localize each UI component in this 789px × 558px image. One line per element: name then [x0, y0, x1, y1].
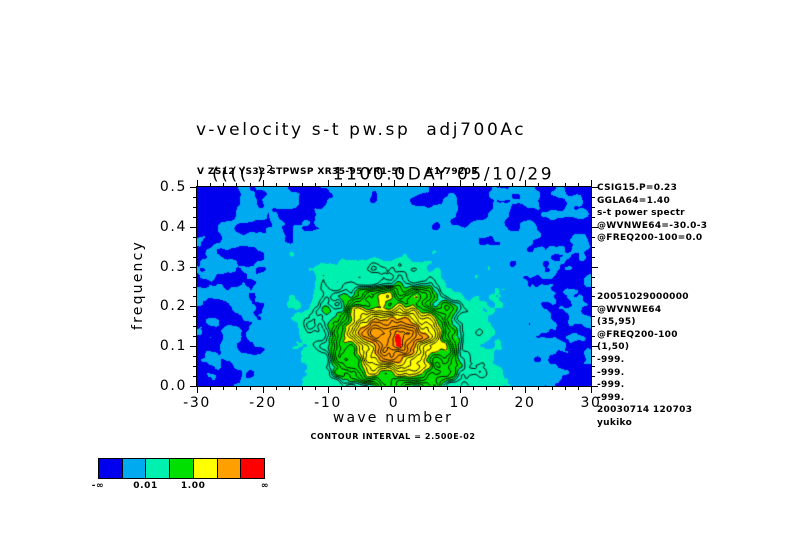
right-annotations-bottom: 20051029000000@WVNWE64(35,95)@FREQ200-10… [597, 291, 692, 430]
y-minor-tick [193, 296, 197, 297]
x-minor-tick [315, 386, 316, 390]
x-minor-tick [433, 386, 434, 390]
y-minor-tick-right [591, 237, 595, 238]
y-tick-label: 0.2 [145, 298, 187, 314]
x-major-tick-top [591, 180, 592, 187]
x-tick-label: -30 [183, 395, 211, 411]
y-major-tick [190, 267, 197, 268]
y-minor-tick-right [591, 326, 595, 327]
colorbar-band-6 [241, 459, 264, 478]
y-major-tick [190, 386, 197, 387]
x-minor-tick-top [486, 183, 487, 187]
x-minor-tick [499, 386, 500, 390]
colorbar-band-0 [99, 459, 123, 478]
contour-interval-caption: CONTOUR INTERVAL = 2.500E-02 [310, 432, 475, 441]
annotation-line: -999. [597, 354, 692, 367]
x-minor-tick [473, 386, 474, 390]
x-minor-tick [407, 386, 408, 390]
x-axis-title: wave number [333, 410, 453, 426]
annotation-line: -999. [597, 392, 692, 405]
y-minor-tick [193, 316, 197, 317]
y-minor-tick-right [591, 316, 595, 317]
x-minor-tick-top [210, 183, 211, 187]
x-minor-tick-top [538, 183, 539, 187]
y-major-tick [190, 187, 197, 188]
title-second-line: (((( )2 1100.0DAY 05/10/29 [196, 143, 554, 185]
y-minor-tick-right [591, 336, 595, 337]
x-tick-label: 10 [449, 395, 470, 411]
y-minor-tick-right [591, 296, 595, 297]
contour-heatmap-canvas [197, 187, 591, 386]
x-minor-tick-top [381, 183, 382, 187]
x-minor-tick-top [236, 183, 237, 187]
x-minor-tick-top [420, 183, 421, 187]
annotation-line: 20030714 120703 [597, 404, 692, 417]
x-major-tick-top [197, 180, 198, 187]
x-minor-tick [512, 386, 513, 390]
x-minor-tick-top [565, 183, 566, 187]
x-minor-tick [236, 386, 237, 390]
x-major-tick [525, 386, 526, 393]
x-minor-tick-top [315, 183, 316, 187]
x-minor-tick-top [276, 183, 277, 187]
y-minor-tick [193, 207, 197, 208]
annotation-line: -999. [597, 367, 692, 380]
x-minor-tick-top [250, 183, 251, 187]
colorbar [98, 458, 265, 479]
y-minor-tick-right [591, 247, 595, 248]
x-minor-tick-top [302, 183, 303, 187]
x-major-tick-top [460, 180, 461, 187]
y-minor-tick [193, 197, 197, 198]
y-tick-label: 0.5 [145, 179, 187, 195]
x-minor-tick-top [512, 183, 513, 187]
colorbar-band-5 [218, 459, 242, 478]
x-minor-tick-top [368, 183, 369, 187]
x-minor-tick [552, 386, 553, 390]
x-minor-tick-top [289, 183, 290, 187]
y-minor-tick-right [591, 356, 595, 357]
x-minor-tick [355, 386, 356, 390]
y-major-tick [190, 346, 197, 347]
y-tick-label: 0.3 [145, 259, 187, 275]
annotation-line: yukiko [597, 417, 692, 430]
x-tick-label: -20 [249, 395, 277, 411]
y-major-tick [190, 306, 197, 307]
x-minor-tick-top [578, 183, 579, 187]
x-minor-tick-top [223, 183, 224, 187]
x-minor-tick-top [341, 183, 342, 187]
x-minor-tick-top [499, 183, 500, 187]
annotation-line: (35,95) [597, 316, 692, 329]
x-minor-tick [538, 386, 539, 390]
x-minor-tick-top [355, 183, 356, 187]
annotation-line: @FREQ200-100=0.0 [597, 232, 707, 245]
y-minor-tick [193, 257, 197, 258]
y-minor-tick-right [591, 277, 595, 278]
colorbar-tick-labels: -∞0.011.00∞ [92, 481, 272, 495]
y-minor-tick-right [591, 287, 595, 288]
annotation-line: GGLA64=1.40 [597, 195, 707, 208]
annotation-line: -999. [597, 379, 692, 392]
x-major-tick [197, 386, 198, 393]
x-minor-tick-top [447, 183, 448, 187]
y-minor-tick-right [591, 217, 595, 218]
y-major-tick [190, 227, 197, 228]
x-minor-tick [250, 386, 251, 390]
x-major-tick-top [263, 180, 264, 187]
y-minor-tick [193, 356, 197, 357]
x-minor-tick [381, 386, 382, 390]
x-major-tick [263, 386, 264, 393]
x-minor-tick [565, 386, 566, 390]
x-major-tick [328, 386, 329, 393]
x-minor-tick [289, 386, 290, 390]
x-major-tick-top [394, 180, 395, 187]
y-minor-tick [193, 237, 197, 238]
annotation-line: 20051029000000 [597, 291, 692, 304]
x-minor-tick-top [433, 183, 434, 187]
y-minor-tick [193, 287, 197, 288]
y-minor-tick [193, 277, 197, 278]
y-minor-tick [193, 217, 197, 218]
spectrum-plot-area [196, 186, 592, 387]
page-title: v-velocity s-t pw.sp adj700Ac [196, 120, 526, 140]
colorbar-label-2: 1.00 [181, 481, 206, 491]
y-minor-tick [193, 247, 197, 248]
x-major-tick [591, 386, 592, 393]
y-minor-tick [193, 336, 197, 337]
colorbar-band-3 [170, 459, 194, 478]
x-minor-tick [341, 386, 342, 390]
y-axis-title: frequency [130, 240, 146, 330]
colorbar-label-1: 0.01 [133, 481, 158, 491]
x-minor-tick [486, 386, 487, 390]
x-tick-label: 20 [514, 395, 535, 411]
y-minor-tick [193, 326, 197, 327]
x-major-tick-top [328, 180, 329, 187]
annotation-line: (1,50) [597, 341, 692, 354]
colorbar-band-4 [194, 459, 218, 478]
annotation-line: @WVNWE64=-30.0-3 [597, 220, 707, 233]
y-tick-label: 0.4 [145, 219, 187, 235]
right-annotations-top: CSIG15.P=0.23GGLA64=1.40s-t power spectr… [597, 182, 707, 245]
x-minor-tick [276, 386, 277, 390]
annotation-line: @FREQ200-100 [597, 329, 692, 342]
colorbar-band-1 [123, 459, 147, 478]
y-minor-tick-right [591, 366, 595, 367]
x-minor-tick [447, 386, 448, 390]
y-minor-tick-right [591, 257, 595, 258]
annotation-line: CSIG15.P=0.23 [597, 182, 707, 195]
plot-parameter-subtitle: V ZS12 YS32 STPWSP XR35-95 YR1-50 #1-792… [197, 167, 478, 177]
y-tick-label: 0.0 [145, 378, 187, 394]
x-minor-tick [302, 386, 303, 390]
y-minor-tick-right [591, 376, 595, 377]
x-minor-tick-top [473, 183, 474, 187]
annotation-line: @WVNWE64 [597, 304, 692, 317]
y-minor-tick [193, 366, 197, 367]
x-tick-label: -10 [314, 395, 342, 411]
y-minor-tick-right [591, 207, 595, 208]
x-major-tick [460, 386, 461, 393]
x-minor-tick [420, 386, 421, 390]
y-minor-tick-right [591, 197, 595, 198]
x-minor-tick [210, 386, 211, 390]
x-minor-tick [578, 386, 579, 390]
x-minor-tick [223, 386, 224, 390]
x-major-tick-top [525, 180, 526, 187]
x-major-tick [394, 386, 395, 393]
y-major-tick-right [591, 267, 598, 268]
x-minor-tick-top [407, 183, 408, 187]
x-minor-tick [368, 386, 369, 390]
colorbar-band-2 [146, 459, 170, 478]
y-tick-label: 0.1 [145, 338, 187, 354]
colorbar-label-0: -∞ [92, 481, 104, 491]
colorbar-label-3: ∞ [261, 481, 269, 491]
x-minor-tick-top [552, 183, 553, 187]
annotation-line: s-t power spectr [597, 207, 707, 220]
x-tick-label: 0 [389, 395, 400, 411]
y-minor-tick [193, 376, 197, 377]
